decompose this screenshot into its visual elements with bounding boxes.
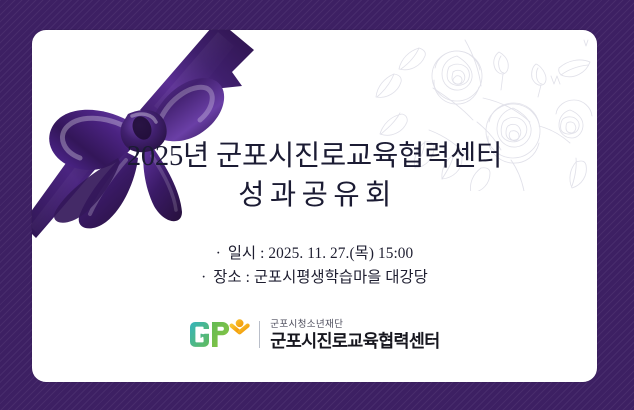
bullet-icon: · <box>201 269 206 286</box>
logo-divider <box>259 321 260 348</box>
detail-value-venue: 군포시평생학습마을 대강당 <box>254 269 428 286</box>
bullet-icon: · <box>216 245 221 262</box>
title-line-2: 성과공유회 <box>32 176 597 216</box>
detail-label-date: 일시 <box>228 245 256 262</box>
title-block: 2025년 군포시진로교육협력센터 성과공유회 <box>32 138 597 216</box>
title-line-1: 2025년 군포시진로교육협력센터 <box>32 138 597 176</box>
logo-lockup: 군포시청소년재단 군포시진로교육협력센터 <box>32 318 597 351</box>
detail-block: · 일시 : 2025. 11. 27.(목) 15:00 · 장소 : 군포시… <box>32 242 597 290</box>
detail-separator-date: : <box>260 245 264 262</box>
detail-row-venue: · 장소 : 군포시평생학습마을 대강당 <box>32 266 597 290</box>
logo-text-block: 군포시청소년재단 군포시진로교육협력센터 <box>270 319 439 351</box>
detail-row-date: · 일시 : 2025. 11. 27.(목) 15:00 <box>32 242 597 266</box>
poster-canvas: 2025년 군포시진로교육협력센터 성과공유회 · 일시 : 2025. 11.… <box>0 0 634 410</box>
invitation-card: 2025년 군포시진로교육협력센터 성과공유회 · 일시 : 2025. 11.… <box>32 30 597 382</box>
detail-separator-venue: : <box>246 269 250 286</box>
detail-label-venue: 장소 <box>213 269 241 286</box>
detail-value-date: 2025. 11. 27.(목) 15:00 <box>268 245 413 262</box>
gpy-logo-icon <box>189 318 251 351</box>
logo-organization-small: 군포시청소년재단 <box>270 319 439 331</box>
logo-organization-main: 군포시진로교육협력센터 <box>270 331 439 351</box>
